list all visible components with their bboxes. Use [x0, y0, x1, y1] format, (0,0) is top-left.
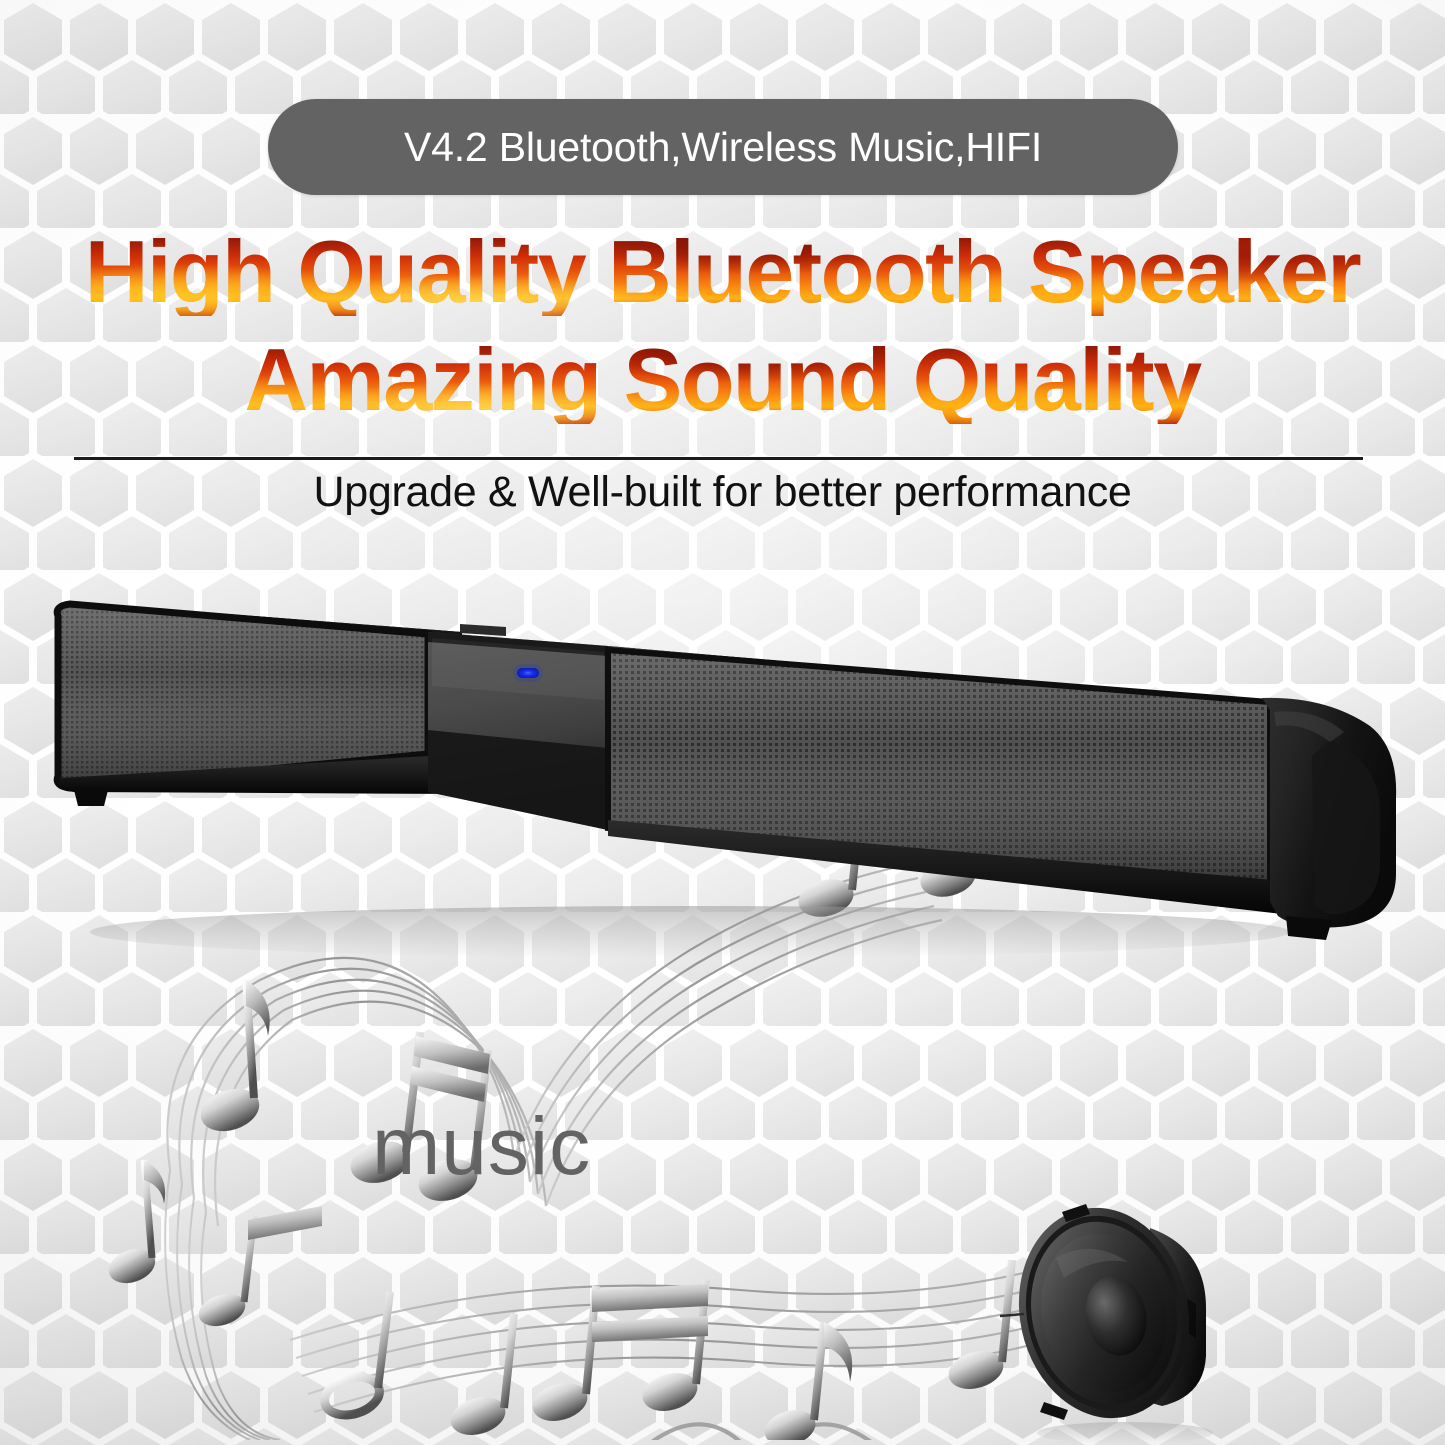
- right-foot: [1286, 916, 1332, 940]
- woofer-mount-tab-2: [1040, 1402, 1068, 1420]
- headline-divider: [74, 457, 1363, 460]
- heart-outline: [619, 1424, 905, 1440]
- headline-line-2: Amazing Sound Quality: [0, 336, 1445, 424]
- woofer-driver-image: [1000, 1180, 1260, 1445]
- soundbar-right-section: [600, 640, 1396, 940]
- headline-line-1: High Quality Bluetooth Speaker: [0, 228, 1445, 316]
- eighth-note-icon: [195, 980, 269, 1138]
- left-foot: [74, 790, 108, 806]
- bluetooth-led-halo: [513, 664, 543, 682]
- feature-banner-text: V4.2 Bluetooth,Wireless Music,HIFI: [404, 124, 1042, 171]
- lower-left-note: [195, 1206, 322, 1332]
- quarter-note-icon: [104, 1160, 165, 1289]
- beamed-notes-icon-2: [528, 1280, 708, 1427]
- woofer-drop-shadow: [1037, 1422, 1213, 1444]
- eighth-note-icon-2: [760, 1322, 852, 1440]
- soundbar-control-panel: [428, 624, 608, 830]
- product-marketing-image: V4.2 Bluetooth,Wireless Music,HIFI High …: [0, 0, 1445, 1445]
- subtitle-text: Upgrade & Well-built for better performa…: [0, 468, 1445, 517]
- soundbar-product-image: [30, 580, 1420, 980]
- control-panel-nub: [460, 624, 506, 636]
- half-note-icon: [320, 1292, 390, 1421]
- headline-block: High Quality Bluetooth Speaker Amazing S…: [0, 228, 1445, 424]
- music-word-label: music: [372, 1100, 591, 1194]
- feature-banner-pill: V4.2 Bluetooth,Wireless Music,HIFI: [268, 99, 1178, 195]
- soundbar-drop-shadow: [90, 906, 1290, 958]
- soundbar-left-section: [50, 598, 470, 806]
